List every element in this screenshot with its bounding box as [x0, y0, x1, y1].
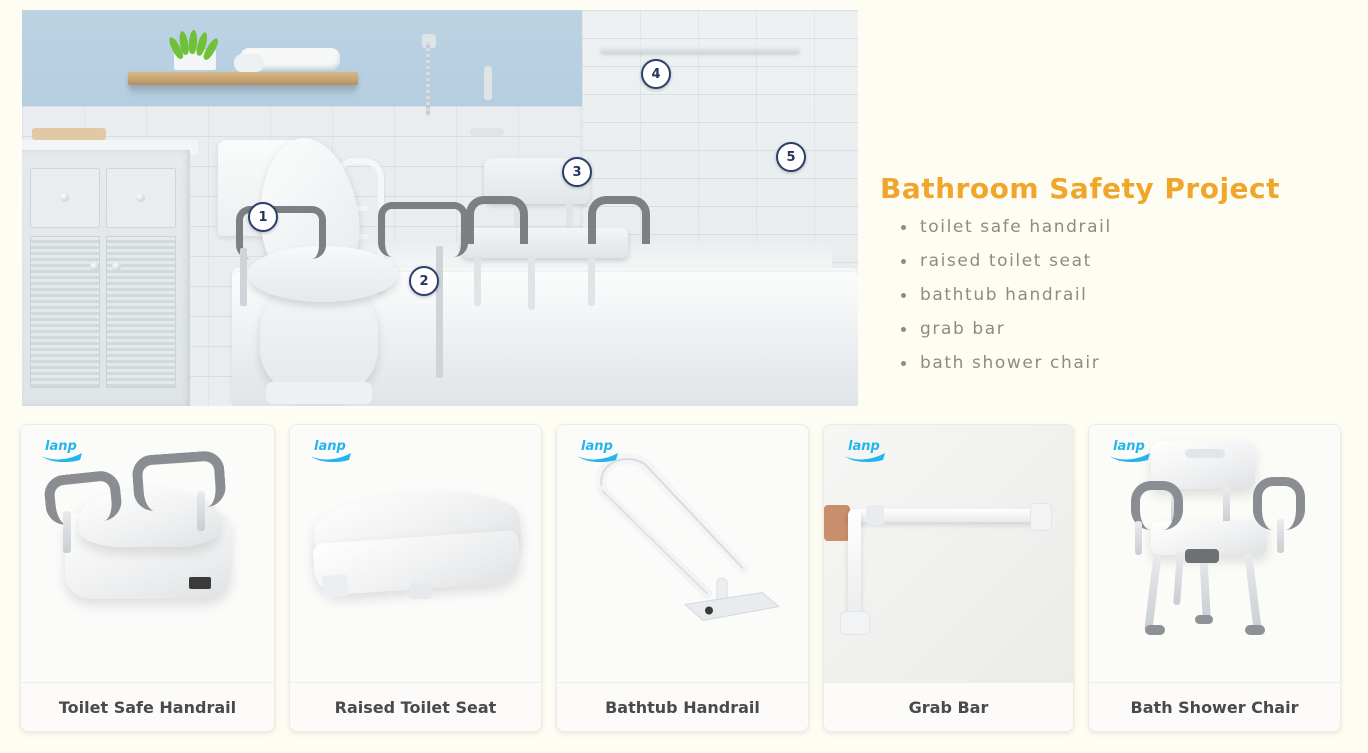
- handrail-illustration: [557, 425, 808, 682]
- leg-tip-left: [1145, 625, 1165, 635]
- product-card-toilet-safe-handrail[interactable]: lanp Toilet Safe Handrail: [20, 424, 275, 732]
- lanp-logo-icon: lanp: [843, 436, 889, 462]
- product-image-grab-bar: lanp: [824, 425, 1073, 682]
- product-card-raised-toilet-seat[interactable]: lanp Raised Toilet Seat: [289, 424, 542, 732]
- shower-grab-bar: [600, 46, 800, 53]
- leg-tip-right: [1245, 625, 1265, 635]
- product-image-bath-shower-chair: lanp: [1089, 425, 1340, 682]
- page-root: 1 2 3 4 5 Bathroom Safety Project toilet…: [0, 0, 1368, 753]
- backrest-post-right: [1223, 487, 1230, 525]
- swivel-mechanism: [1185, 549, 1219, 563]
- product-card-bath-shower-chair[interactable]: lanp Bath Shower Chair: [1088, 424, 1341, 732]
- shower-valve: [470, 128, 504, 136]
- chair-armrest-left: [466, 196, 528, 244]
- leg-tip-mid: [1195, 615, 1213, 624]
- riser-tab-right: [410, 583, 432, 599]
- product-label: Bath Shower Chair: [1089, 682, 1340, 731]
- clamp-knob: [189, 577, 211, 589]
- feature-list: toilet safe handrail raised toilet seat …: [880, 219, 1350, 389]
- product-image-toilet-safe-handrail: lanp: [21, 425, 274, 682]
- vanity-door-left: [30, 236, 100, 388]
- corner-joint: [866, 505, 884, 525]
- product-card-bathtub-handrail[interactable]: lanp Bathtub Handrail: [556, 424, 809, 732]
- shower-hose: [426, 42, 430, 116]
- lanp-logo-icon: lanp: [309, 436, 355, 462]
- svg-text:lanp: lanp: [848, 439, 880, 454]
- product-card-row: lanp Toilet Safe Handrail lanp: [20, 424, 1350, 732]
- backrest-handle-slot: [1185, 449, 1225, 458]
- chair-leg-front-right: [1244, 553, 1261, 631]
- soap-dish: [32, 128, 106, 140]
- list-item: bathtub handrail: [920, 287, 1350, 321]
- chair-leg-mid: [1199, 553, 1211, 621]
- wall-background: [824, 425, 1073, 682]
- cabinet-knob-left: [90, 262, 99, 271]
- product-image-bathtub-handrail: lanp: [557, 425, 808, 682]
- page-title: Bathroom Safety Project: [880, 172, 1350, 205]
- shower-bracket: [484, 66, 492, 100]
- riser-tab-left: [321, 574, 348, 598]
- flange-right: [1030, 503, 1052, 531]
- drawer-knob-left: [60, 193, 69, 202]
- lanp-logo-icon: lanp: [576, 436, 622, 462]
- product-image-raised-toilet-seat: lanp: [290, 425, 541, 682]
- rolled-towel-small: [234, 54, 264, 72]
- svg-text:lanp: lanp: [314, 439, 346, 454]
- handle-right: [131, 450, 227, 512]
- callout-marker-3[interactable]: 3: [562, 157, 592, 187]
- product-label: Toilet Safe Handrail: [21, 682, 274, 731]
- toilet-handrail-left-post: [240, 248, 247, 306]
- list-item: toilet safe handrail: [920, 219, 1350, 253]
- hero-bathroom-photo: 1 2 3 4 5: [22, 10, 858, 406]
- shelf-shadow: [130, 85, 356, 94]
- info-panel: Bathroom Safety Project toilet safe hand…: [880, 172, 1350, 389]
- wooden-shelf: [128, 72, 358, 85]
- product-label: Raised Toilet Seat: [290, 682, 541, 731]
- plant-icon: [170, 30, 222, 56]
- chair-leg-2: [528, 254, 535, 310]
- chair-armrest-right: [588, 196, 650, 244]
- cabinet-knob-right: [112, 262, 121, 271]
- toilet-handrail-right-post: [436, 246, 443, 378]
- product-label: Grab Bar: [824, 682, 1073, 731]
- handle-left: [43, 469, 124, 527]
- vanity-door-right: [106, 236, 176, 388]
- callout-marker-5[interactable]: 5: [776, 142, 806, 172]
- chair-leg-rear: [1173, 551, 1184, 605]
- chair-leg-1: [474, 254, 481, 306]
- post-right: [197, 491, 205, 531]
- list-item: bath shower chair: [920, 355, 1350, 389]
- toilet-base: [266, 382, 372, 404]
- toilet-handrail-right: [378, 202, 468, 257]
- hand-holding: [824, 505, 850, 541]
- callout-marker-2[interactable]: 2: [409, 266, 439, 296]
- svg-text:lanp: lanp: [581, 439, 613, 454]
- list-item: raised toilet seat: [920, 253, 1350, 287]
- chair-leg-3: [588, 254, 595, 306]
- post-left: [63, 511, 71, 553]
- chair-leg-front-left: [1144, 553, 1161, 631]
- flange-bottom: [840, 611, 870, 635]
- callout-marker-1[interactable]: 1: [248, 202, 278, 232]
- drawer-knob-right: [136, 193, 145, 202]
- product-label: Bathtub Handrail: [557, 682, 808, 731]
- svg-text:lanp: lanp: [1113, 439, 1145, 454]
- product-card-grab-bar[interactable]: lanp Grab Bar: [823, 424, 1074, 732]
- lanp-logo-icon: lanp: [40, 436, 86, 462]
- svg-text:lanp: lanp: [45, 439, 77, 454]
- armrest-post-left: [1135, 521, 1142, 555]
- armrest-post-right: [1277, 519, 1284, 553]
- callout-marker-4[interactable]: 4: [641, 59, 671, 89]
- lanp-logo-icon: lanp: [1108, 436, 1154, 462]
- list-item: grab bar: [920, 321, 1350, 355]
